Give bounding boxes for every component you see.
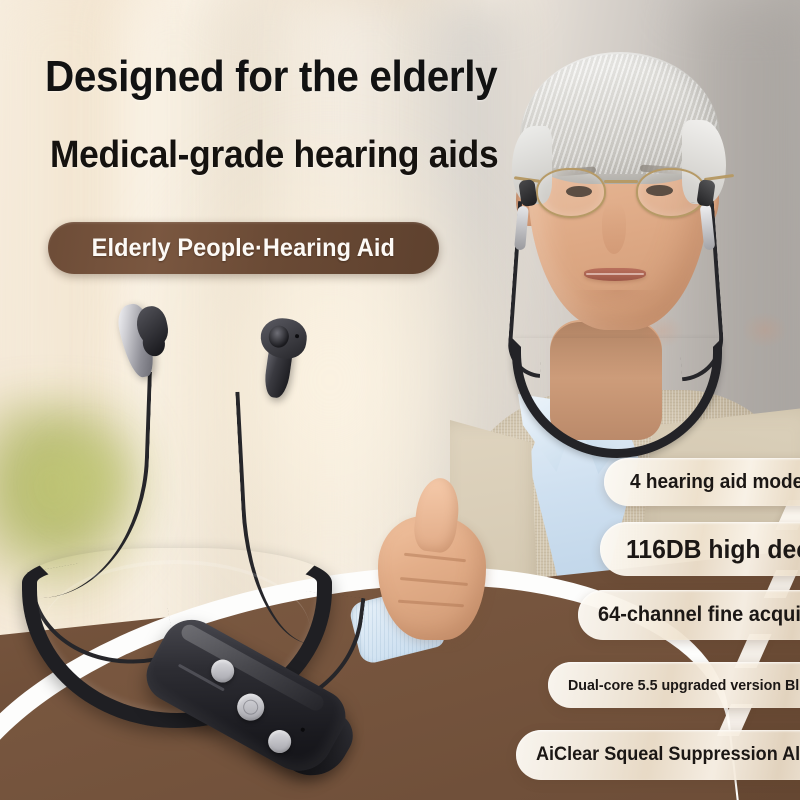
earbud-silver	[115, 298, 176, 382]
product-banner: Designed for the elderly Medical-grade h…	[0, 0, 800, 800]
feature-label: AiClear Squeal Suppression Algorithm	[536, 744, 800, 766]
headline-secondary: Medical-grade hearing aids	[50, 134, 498, 177]
worn-earbud-left	[518, 179, 537, 207]
feature-pill-hearing-modes: 4 hearing aid modes	[604, 458, 800, 506]
feature-label: 64-channel fine acquisition	[598, 603, 800, 627]
product-neckband-earphones	[0, 290, 380, 800]
feature-label: 4 hearing aid modes	[630, 471, 800, 494]
feature-pill-channels: 64-channel fine acquisition	[578, 590, 800, 640]
feature-pill-decibel: 116DB high decibel	[600, 522, 800, 576]
neckband-body	[18, 548, 340, 798]
microphone-pinhole	[300, 727, 305, 732]
feature-label: Dual-core 5.5 upgraded version Bluetooth	[568, 677, 800, 694]
headline-primary: Designed for the elderly	[45, 52, 497, 102]
feature-pill-bluetooth: Dual-core 5.5 upgraded version Bluetooth	[548, 662, 800, 708]
thumbs-up-gesture	[370, 482, 502, 650]
earbud-black	[253, 315, 307, 398]
category-badge-label: Elderly People·Hearing Aid	[92, 234, 395, 263]
nose	[602, 202, 626, 254]
glasses-bridge	[604, 180, 638, 183]
cheek-right	[742, 312, 788, 348]
volume-down-button	[264, 726, 295, 757]
mouth-teeth-line	[586, 273, 644, 275]
category-badge: Elderly People·Hearing Aid	[48, 222, 439, 274]
feature-label: 116DB high decibel	[626, 534, 800, 565]
feature-pill-noise-algorithm: AiClear Squeal Suppression Algorithm	[516, 730, 800, 780]
chin-shadow	[572, 290, 664, 312]
